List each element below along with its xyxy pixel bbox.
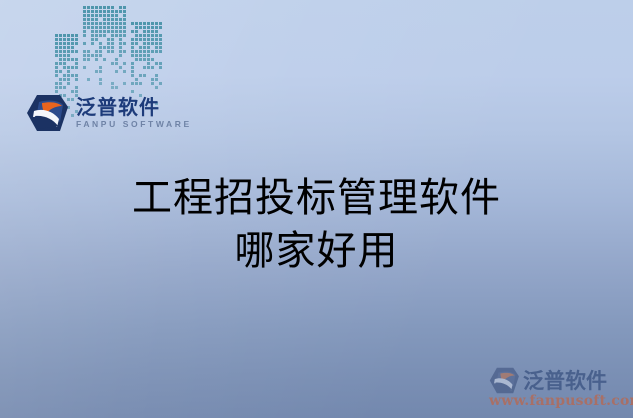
- brand-logo: 泛普软件 FANPU SOFTWARE: [26, 94, 192, 132]
- fanpu-hexagon-logo-icon: [489, 367, 519, 394]
- brand-name-cn: 泛普软件: [76, 96, 192, 118]
- pixel-building-skyline-icon: [55, 4, 163, 92]
- slide-title-line-2: 哪家好用: [0, 225, 633, 278]
- slide-title-line-1: 工程招投标管理软件: [0, 172, 633, 225]
- fanpu-hexagon-logo-icon: [26, 94, 68, 132]
- slide-title: 工程招投标管理软件 哪家好用: [0, 172, 633, 278]
- watermark-logo-row: 泛普软件: [489, 367, 627, 394]
- presentation-slide: 泛普软件 FANPU SOFTWARE 工程招投标管理软件 哪家好用 泛普软件 …: [0, 0, 633, 418]
- brand-wordmark: 泛普软件 FANPU SOFTWARE: [76, 96, 192, 130]
- brand-name-en: FANPU SOFTWARE: [76, 118, 192, 130]
- watermark: 泛普软件 www.fanpusoft.com: [489, 367, 627, 410]
- watermark-url: www.fanpusoft.com: [489, 393, 627, 410]
- watermark-name-cn: 泛普软件: [523, 369, 607, 393]
